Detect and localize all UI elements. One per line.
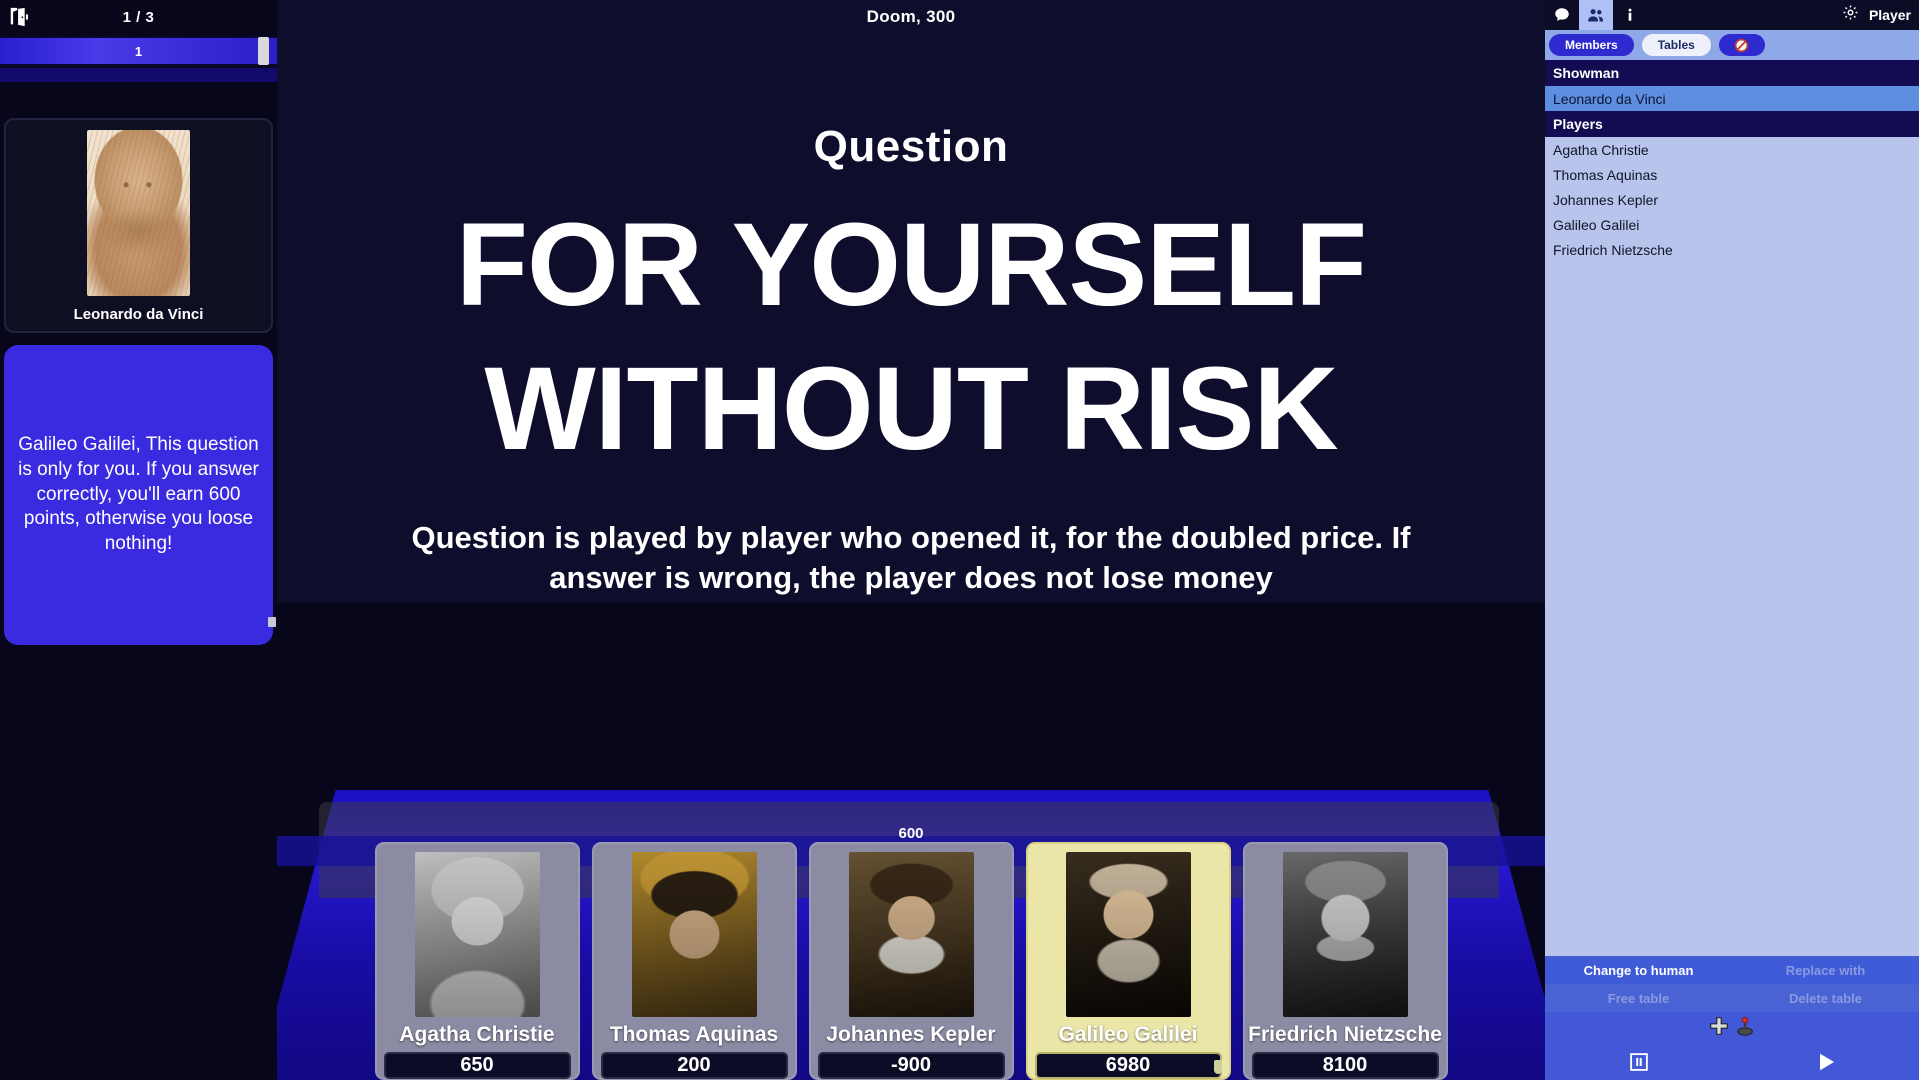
progress-shadow (0, 68, 277, 82)
list-item[interactable]: Galileo Galilei (1545, 212, 1919, 237)
plus-icon[interactable] (1708, 1015, 1730, 1042)
theme-and-price-title: Doom, 300 (867, 7, 956, 27)
info-icon[interactable] (1613, 0, 1647, 30)
left-topbar: 1 / 3 (0, 0, 277, 34)
chat-bubble-icon[interactable] (1545, 0, 1579, 30)
table-actions-row-1: Change to human Replace with (1545, 956, 1919, 984)
ban-icon-button[interactable] (1719, 34, 1765, 56)
game-screen: 1 / 3 1 Leonardo da Vinci Galileo Galile… (0, 0, 1919, 1080)
players-list: Agatha Christie Thomas Aquinas Johannes … (1545, 137, 1919, 956)
player-portrait-image (415, 852, 540, 1017)
current-price-label: 600 (277, 825, 1545, 842)
stage-header: Doom, 300 (277, 0, 1545, 34)
showman-name: Leonardo da Vinci (74, 306, 204, 323)
list-item-showman[interactable]: Leonardo da Vinci (1545, 86, 1919, 111)
podium-area: 600 Agatha Christie 650 Thomas Aquinas 2… (277, 602, 1545, 1080)
question-text: FOR YOURSELF WITHOUT RISK (323, 194, 1499, 482)
list-item[interactable]: Thomas Aquinas (1545, 162, 1919, 187)
delete-table-button[interactable]: Delete table (1732, 985, 1919, 1012)
people-icon[interactable] (1579, 0, 1613, 30)
showman-card[interactable]: Leonardo da Vinci (4, 118, 273, 333)
showman-portrait-image (87, 130, 190, 296)
showman-message-bubble: Galileo Galilei, This question is only f… (4, 345, 273, 645)
showman-section-header: Showman (1545, 60, 1919, 86)
players-row: Agatha Christie 650 Thomas Aquinas 200 J… (277, 840, 1545, 1080)
player-score: 6980 (1035, 1052, 1222, 1079)
showman-message-text: Galileo Galilei, This question is only f… (18, 433, 259, 556)
role-label: Player (1869, 7, 1911, 23)
player-portrait-image (632, 852, 757, 1017)
round-progress[interactable]: 1 (0, 36, 277, 66)
play-icon[interactable] (1806, 1049, 1846, 1075)
gear-icon[interactable] (1842, 4, 1859, 26)
player-name: Galileo Galilei (1059, 1023, 1198, 1047)
left-spacer (0, 82, 277, 112)
question-rules-text: Question is played by player who opened … (371, 518, 1451, 599)
round-counter: 1 / 3 (0, 9, 277, 26)
add-table-row (1545, 1012, 1919, 1044)
game-stage: Doom, 300 Question FOR YOURSELF WITHOUT … (277, 0, 1545, 1080)
player-name: Johannes Kepler (826, 1023, 995, 1047)
question-kicker: Question (814, 122, 1009, 172)
player-score: 200 (601, 1052, 788, 1079)
player-name: Friedrich Nietzsche (1248, 1023, 1442, 1047)
bubble-tail-icon (268, 617, 276, 627)
player-chip-icon (1214, 1060, 1222, 1074)
player-card[interactable]: Agatha Christie 650 (375, 842, 580, 1080)
player-name: Agatha Christie (399, 1023, 554, 1047)
table-actions-row-2: Free table Delete table (1545, 984, 1919, 1012)
player-card[interactable]: Friedrich Nietzsche 8100 (1243, 842, 1448, 1080)
replace-with-button[interactable]: Replace with (1732, 957, 1919, 984)
progress-knob[interactable] (258, 37, 269, 65)
pause-icon[interactable] (1619, 1049, 1659, 1075)
list-item[interactable]: Agatha Christie (1545, 137, 1919, 162)
player-name: Thomas Aquinas (610, 1023, 778, 1047)
player-card[interactable]: Thomas Aquinas 200 (592, 842, 797, 1080)
player-score: -900 (818, 1052, 1005, 1079)
player-portrait-image (1066, 852, 1191, 1017)
right-panel-topbar-right: Player (1842, 0, 1911, 30)
change-to-human-button[interactable]: Change to human (1545, 957, 1732, 984)
player-portrait-image (1283, 852, 1408, 1017)
list-item[interactable]: Johannes Kepler (1545, 187, 1919, 212)
right-panel: Player Members Tables Showman Leonardo d… (1545, 0, 1919, 1080)
progress-value: 1 (135, 44, 142, 59)
list-item[interactable]: Friedrich Nietzsche (1545, 237, 1919, 262)
right-panel-topbar: Player (1545, 0, 1919, 30)
game-controls-row (1545, 1044, 1919, 1080)
members-tables-tabbar: Members Tables (1545, 30, 1919, 60)
player-card-active[interactable]: Galileo Galilei 6980 (1026, 842, 1231, 1080)
progress-bar-fill: 1 (0, 38, 277, 64)
player-score: 650 (384, 1052, 571, 1079)
left-sidebar: 1 / 3 1 Leonardo da Vinci Galileo Galile… (0, 0, 277, 1080)
joystick-icon[interactable] (1734, 1015, 1756, 1042)
players-section-header: Players (1545, 111, 1919, 137)
player-card[interactable]: Johannes Kepler -900 (809, 842, 1014, 1080)
tab-tables[interactable]: Tables (1642, 34, 1711, 56)
table-actions: Change to human Replace with Free table … (1545, 956, 1919, 1080)
player-portrait-image (849, 852, 974, 1017)
player-score: 8100 (1252, 1052, 1439, 1079)
tab-members[interactable]: Members (1549, 34, 1634, 56)
free-table-button[interactable]: Free table (1545, 985, 1732, 1012)
